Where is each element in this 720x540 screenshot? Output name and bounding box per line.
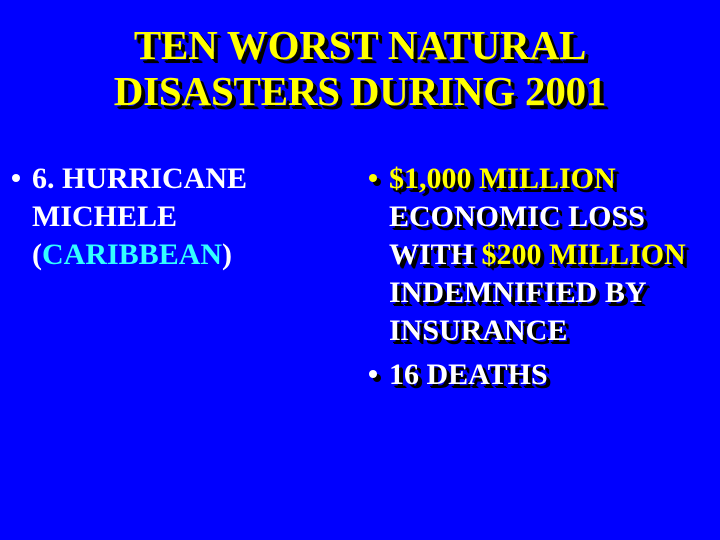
right-content-column: $1,000 MILLION ECONOMIC LOSS WITH $200 M… bbox=[363, 160, 715, 400]
bullet-dot-icon bbox=[369, 370, 377, 378]
list-item: 16 DEATHS bbox=[363, 356, 715, 394]
insured-label: INDEMNIFIED BY INSURANCE bbox=[389, 276, 645, 347]
bullet-text: $1,000 MILLION ECONOMIC LOSS WITH $200 M… bbox=[389, 160, 715, 350]
region-label: CARIBBEAN bbox=[42, 238, 222, 271]
region-close-paren: ) bbox=[222, 238, 232, 271]
slide-canvas: TEN WORST NATURAL DISASTERS DURING 2001 … bbox=[0, 0, 720, 540]
economic-loss-amount: $1,000 MILLION bbox=[389, 162, 616, 195]
slide-title: TEN WORST NATURAL DISASTERS DURING 2001 bbox=[0, 22, 720, 114]
title-line-1: TEN WORST NATURAL bbox=[0, 22, 720, 68]
list-item: 6. HURRICANE MICHELE (CARIBBEAN) bbox=[6, 160, 356, 274]
death-toll-label: 16 DEATHS bbox=[389, 358, 548, 391]
bullet-dot-icon bbox=[12, 174, 20, 182]
list-item: $1,000 MILLION ECONOMIC LOSS WITH $200 M… bbox=[363, 160, 715, 350]
bullet-text: 6. HURRICANE MICHELE (CARIBBEAN) bbox=[32, 160, 356, 274]
left-content-column: 6. HURRICANE MICHELE (CARIBBEAN) bbox=[6, 160, 356, 280]
title-line-2: DISASTERS DURING 2001 bbox=[0, 68, 720, 114]
bullet-dot-icon bbox=[369, 174, 377, 182]
bullet-text: 16 DEATHS bbox=[389, 356, 715, 394]
insured-amount: $200 MILLION bbox=[482, 238, 686, 271]
